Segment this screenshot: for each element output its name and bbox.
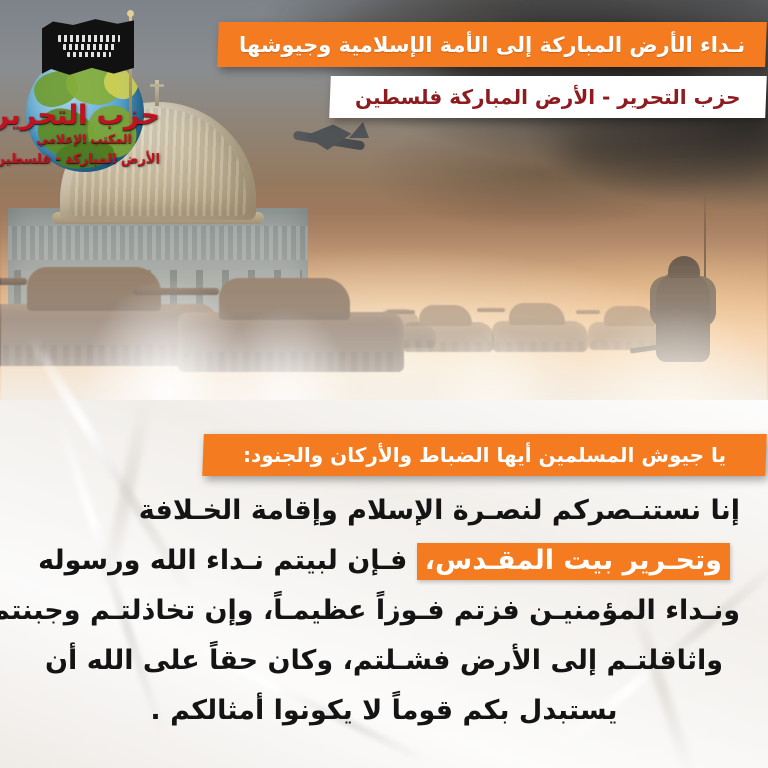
highlighted-phrase: وتحـرير بيت المقـدس، (417, 543, 730, 580)
body-line-3-text: ونـداء المؤمنيـن فزتم فـوزاً عظيمـاً، وإ… (0, 595, 740, 626)
dust-plumes (0, 212, 768, 432)
subtitle-text: حزب التحرير - الأرض المباركة فلسطين (355, 85, 741, 109)
fighter-jet-icon (283, 118, 369, 162)
body-line-5-text: يستبدل بكم قوماً لا يكونوا أمثالكم . (150, 695, 617, 726)
shahada-text (52, 26, 126, 66)
headline-text: نـداء الأرض المباركة إلى الأمة الإسلامية… (239, 33, 745, 57)
logo-title: حزب التحرير (8, 100, 160, 131)
call-text: يا جيوش المسلمين أيها الضباط والأركان وا… (243, 443, 726, 467)
poster: حزب التحرير المكتب الإعلامي الأرض المبار… (0, 0, 768, 768)
body-text: إنا نستنـصركم لنصـرة الإسلام وإقامة الخـ… (28, 486, 740, 736)
logo-place: الأرض المباركة - فلسطين (8, 152, 160, 167)
body-line-2-text: فـإن لبيتم نـداء الله ورسوله (38, 545, 407, 576)
call-banner: يا جيوش المسلمين أيها الضباط والأركان وا… (202, 434, 767, 476)
body-line-1: إنا نستنـصركم لنصـرة الإسلام وإقامة الخـ… (28, 486, 740, 536)
headline-banner: نـداء الأرض المباركة إلى الأمة الإسلامية… (217, 22, 767, 67)
body-line-4: واثاقلتـم إلى الأرض فشـلتم، وكان حقاً عل… (28, 636, 740, 686)
body-line-2: وتحـرير بيت المقـدس، فـإن لبيتم نـداء ال… (28, 536, 740, 586)
organization-logo: حزب التحرير المكتب الإعلامي الأرض المبار… (8, 6, 160, 182)
subtitle-banner: حزب التحرير - الأرض المباركة فلسطين (329, 76, 767, 118)
body-line-3: ونـداء المؤمنيـن فزتم فـوزاً عظيمـاً، وإ… (28, 586, 740, 636)
body-line-5: يستبدل بكم قوماً لا يكونوا أمثالكم . (28, 686, 740, 736)
body-line-4-text: واثاقلتـم إلى الأرض فشـلتم، وكان حقاً عل… (45, 645, 723, 676)
body-line-1-text: إنا نستنـصركم لنصـرة الإسلام وإقامة الخـ… (139, 486, 740, 536)
logo-office: المكتب الإعلامي (8, 132, 160, 146)
